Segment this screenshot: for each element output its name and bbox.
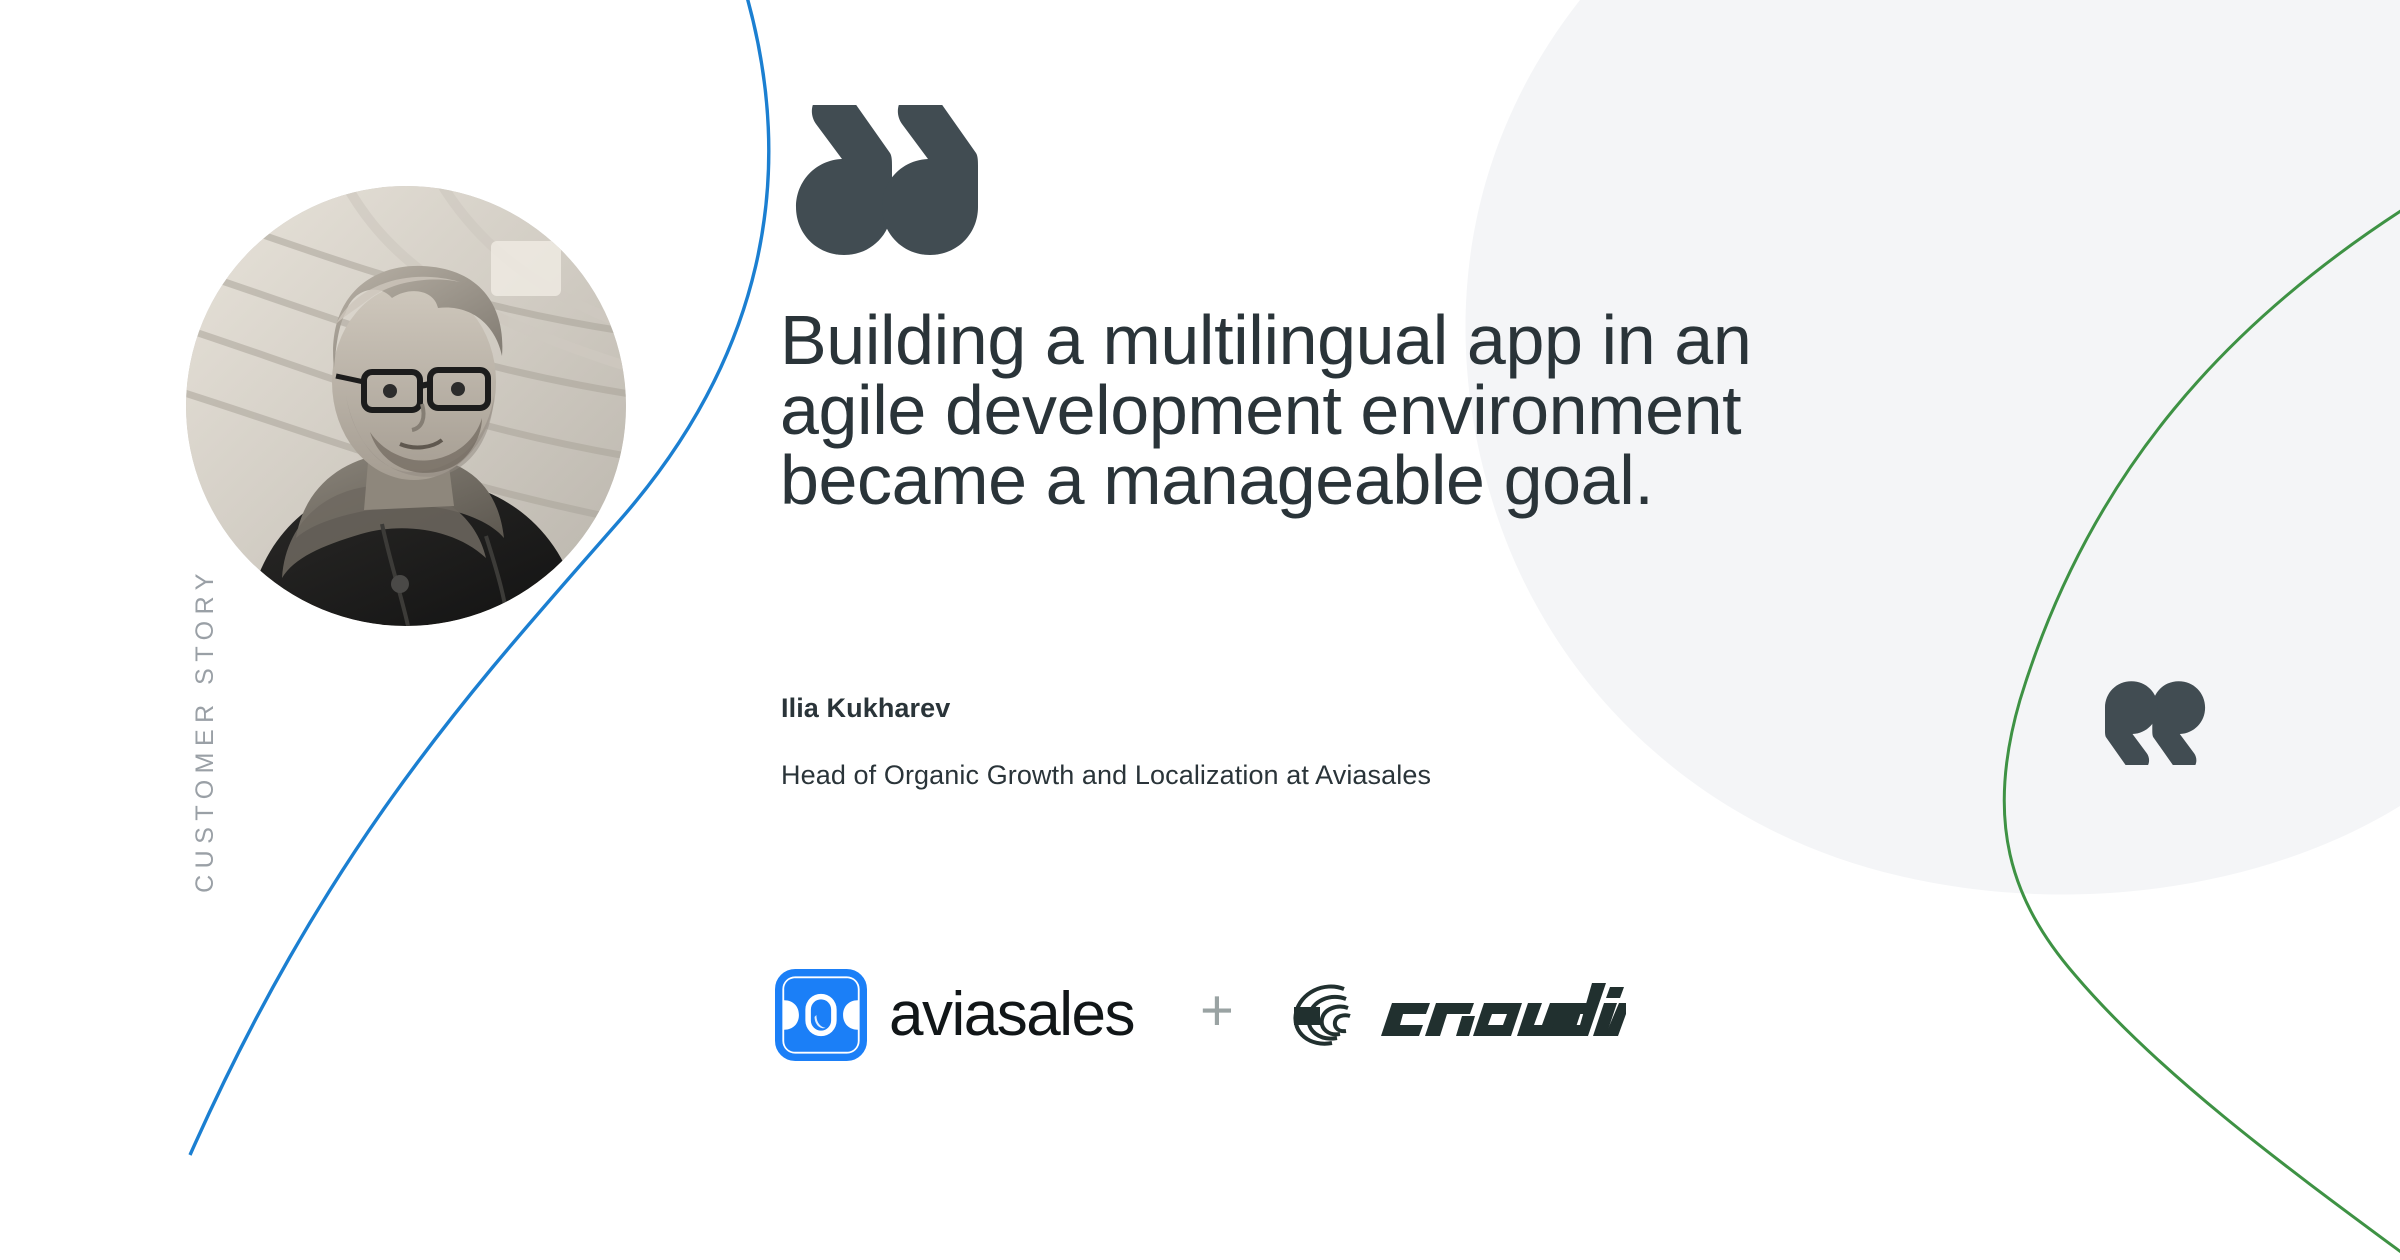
crowdin-logo: [1290, 979, 1626, 1051]
quote-line-1: Building a multilingual app in an: [780, 305, 2200, 375]
logo-row: aviasales +: [775, 960, 1626, 1070]
quote-open-icon: [778, 105, 978, 255]
quote-close-icon: [2105, 680, 2215, 765]
aviasales-mark-icon: [775, 969, 867, 1061]
author-role: Head of Organic Growth and Localization …: [781, 760, 1431, 791]
customer-story-badge-label: CUSTOMER STORY: [191, 567, 220, 893]
quote-text: Building a multilingual app in an agile …: [780, 305, 2200, 515]
quote-line-3: became a manageable goal.: [780, 445, 2200, 515]
avatar-photo: [186, 186, 626, 626]
customer-story-card: CUSTOMER STORY Building a multilingual a…: [0, 0, 2400, 1260]
background-decoration: [0, 0, 2400, 1260]
quote-line-2: agile development environment: [780, 375, 2200, 445]
customer-story-badge: CUSTOMER STORY: [175, 550, 235, 910]
aviasales-logo: aviasales: [775, 969, 1134, 1061]
crowdin-wordmark-icon: [1376, 983, 1626, 1047]
logo-separator-plus: +: [1200, 982, 1234, 1040]
crowdin-mark-icon: [1290, 979, 1368, 1051]
author-name: Ilia Kukharev: [781, 693, 950, 724]
avatar: [186, 186, 626, 626]
aviasales-wordmark: aviasales: [889, 984, 1134, 1046]
